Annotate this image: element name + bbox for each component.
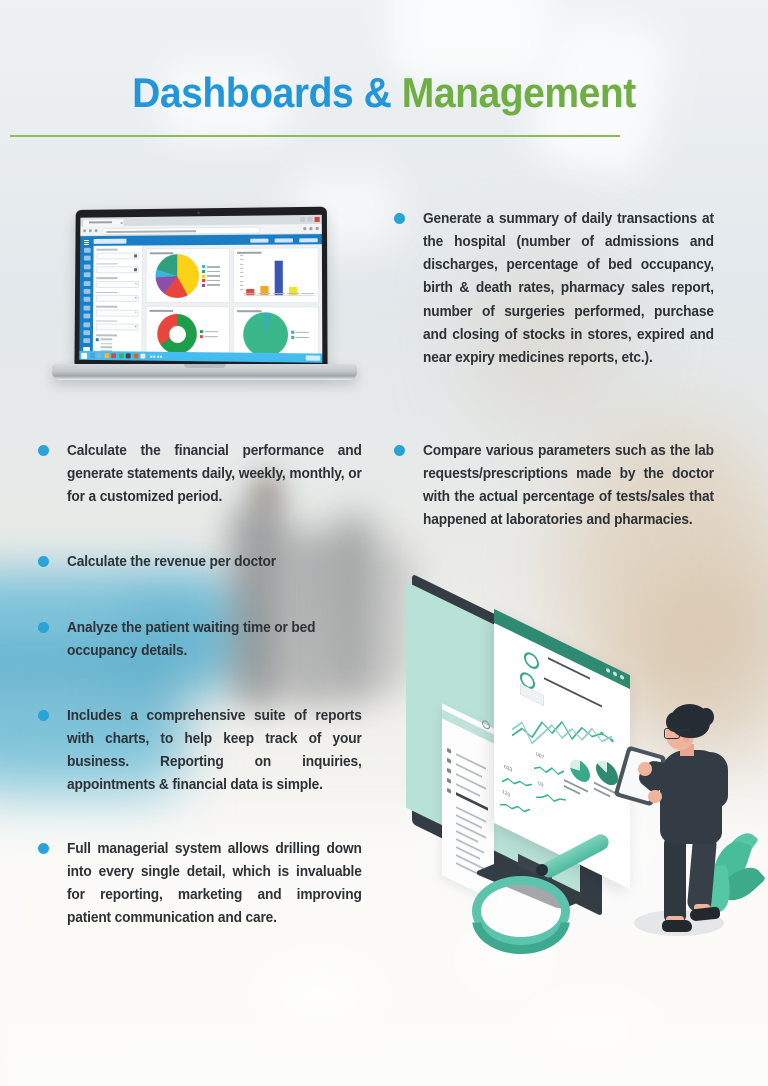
- legend: [202, 265, 220, 286]
- bullet-text: Full managerial system allows drilling d…: [67, 838, 362, 931]
- bullet-text: Calculate the revenue per doctor: [67, 551, 362, 574]
- clock-icon: [447, 778, 451, 784]
- bullet-dot-icon: [394, 213, 405, 224]
- windows-taskbar: [79, 351, 322, 363]
- bar-chart-age-graphic: [237, 254, 315, 296]
- bullet-text: Generate a summary of daily transactions…: [423, 208, 714, 370]
- close-icon: [121, 222, 123, 224]
- bullet-text: Analyze the patient waiting time or bed …: [67, 617, 362, 663]
- laptop-screen: [79, 215, 322, 363]
- person-hand: [648, 790, 662, 803]
- person-shoulder: [694, 752, 728, 808]
- bullet-dot-icon: [38, 445, 49, 456]
- page-title-blue: Dashboards &: [132, 69, 391, 116]
- files-icon: [104, 353, 109, 358]
- clock: [306, 355, 321, 360]
- laptop-lid: [74, 207, 327, 368]
- person-legs: [664, 834, 720, 926]
- nav-buttons: [83, 229, 97, 232]
- bar-chart-age: [233, 247, 319, 303]
- page-header: Dashboards & Management: [0, 72, 768, 114]
- dashboard-charts-grid: [142, 244, 322, 353]
- select-field-3: [96, 309, 139, 316]
- back-icon: [83, 229, 86, 232]
- pie-chart-nationality: [146, 248, 230, 303]
- metric-ring-icon: [524, 649, 539, 671]
- bullet-dot-icon: [394, 445, 405, 456]
- forward-icon: [89, 229, 92, 232]
- app-sidebar: [79, 246, 93, 351]
- chart-icon: [447, 758, 451, 764]
- bullet-dot-icon: [38, 843, 49, 854]
- select-field-4: [96, 323, 139, 330]
- laptop-dashboard-screenshot: [52, 208, 357, 390]
- checkbox-option-1: [96, 338, 139, 341]
- start-icon: [81, 352, 87, 358]
- window-dots: [606, 667, 624, 680]
- laptop-base: [52, 364, 357, 380]
- browser-toolbar-icons: [303, 227, 318, 230]
- webcam-icon: [197, 211, 200, 214]
- list-item: Analyze the patient waiting time or bed …: [38, 617, 374, 663]
- list-item: Calculate the revenue per doctor: [38, 551, 374, 574]
- pdf-icon: [111, 353, 116, 358]
- list-item: Generate a summary of daily transactions…: [394, 208, 726, 370]
- poster-page: Dashboards & Management: [0, 0, 768, 1086]
- pie-chart-patients-graphic: [243, 312, 288, 357]
- card-title-bar: [494, 609, 630, 689]
- person-hair: [698, 708, 714, 726]
- person-hand: [638, 762, 652, 776]
- bullet-dot-icon: [38, 710, 49, 721]
- bullet-dot-icon: [38, 622, 49, 633]
- select-field-1: [96, 281, 139, 288]
- checkbox-option-3: [96, 346, 139, 348]
- date-from-field: [96, 252, 139, 259]
- list-item: Compare various parameters such as the l…: [394, 440, 726, 533]
- list-icon: [447, 748, 451, 754]
- app-header-actions: [250, 238, 318, 243]
- page-title-green: Management: [402, 69, 636, 116]
- list-item: Full managerial system allows drilling d…: [38, 838, 374, 931]
- page-title: Dashboards & Management: [27, 72, 741, 114]
- terminal-icon: [126, 353, 131, 358]
- app-logo: [94, 239, 127, 244]
- pie-chart-nationality-graphic: [155, 254, 199, 298]
- isometric-analytics-monitor-scene: 007 633 03 120: [398, 612, 768, 957]
- donut-chart-gender-graphic: [157, 314, 197, 354]
- list-item: Calculate the financial performance and …: [38, 440, 374, 509]
- bullet-text: Calculate the financial performance and …: [67, 440, 362, 509]
- reload-icon: [95, 229, 98, 232]
- legend: [200, 330, 218, 338]
- select-field-2: [96, 295, 139, 302]
- bullet-list-right-bottom: Compare various parameters such as the l…: [394, 440, 726, 555]
- app-icon: [133, 353, 138, 358]
- bullet-dot-icon: [38, 556, 49, 567]
- bullet-list-right-top: Generate a summary of daily transactions…: [394, 208, 726, 392]
- explorer-icon: [89, 353, 94, 358]
- menu-icon: [84, 240, 89, 244]
- bullet-text: Compare various parameters such as the l…: [423, 440, 714, 533]
- settings-icon: [447, 788, 451, 794]
- checkbox-option-2: [96, 343, 139, 345]
- date-to-field: [96, 266, 139, 273]
- filters-panel: [93, 245, 143, 351]
- url-field: [101, 227, 260, 235]
- app-body: [79, 244, 322, 353]
- user-icon: [447, 768, 451, 774]
- app-icon-2: [140, 354, 145, 359]
- header-divider: [10, 135, 620, 137]
- window-controls: [300, 216, 320, 221]
- list-item: Includes a comprehensive suite of report…: [38, 705, 374, 798]
- bullet-text: Includes a comprehensive suite of report…: [67, 705, 362, 798]
- bullet-list-left: Calculate the financial performance and …: [38, 440, 374, 952]
- legend: [291, 331, 309, 339]
- folder-icon: [97, 353, 102, 358]
- chrome-icon: [118, 353, 123, 358]
- system-tray: [150, 355, 162, 357]
